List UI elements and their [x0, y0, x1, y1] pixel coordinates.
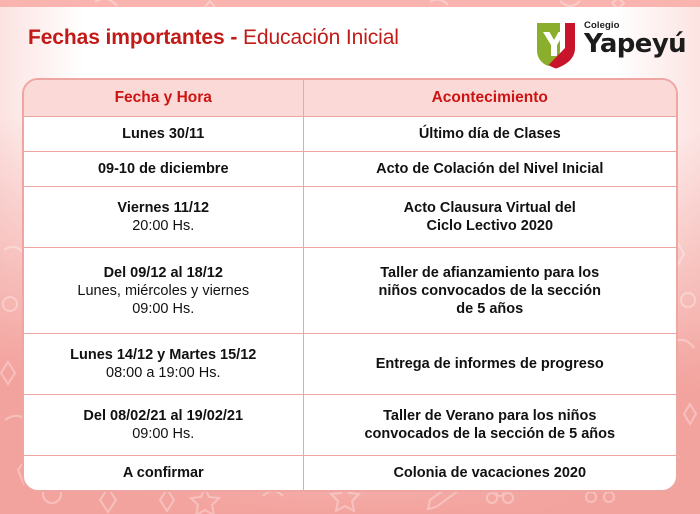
- cell-event-line: Colonia de vacaciones 2020: [310, 464, 671, 482]
- cell-date: 09-10 de diciembre: [24, 151, 303, 186]
- cell-date-content: Del 09/12 al 18/12Lunes, miércoles y vie…: [30, 264, 297, 318]
- table-header-row: Fecha y Hora Acontecimiento: [24, 80, 676, 116]
- cell-event-line: Acto de Colación del Nivel Inicial: [310, 160, 671, 178]
- cell-event-line: Entrega de informes de progreso: [310, 355, 671, 373]
- table-row: Lunes 14/12 y Martes 15/1208:00 a 19:00 …: [24, 334, 676, 395]
- cell-event: Último día de Clases: [303, 116, 676, 151]
- cell-event-line: de 5 años: [310, 300, 671, 318]
- cell-event-line: Acto Clausura Virtual del: [310, 199, 671, 217]
- cell-date-content: Viernes 11/1220:00 Hs.: [30, 199, 297, 235]
- cell-event-content: Entrega de informes de progreso: [310, 355, 671, 373]
- cell-date-line: 20:00 Hs.: [30, 217, 297, 235]
- schedule-table: Fecha y Hora Acontecimiento Lunes 30/11Ú…: [24, 80, 676, 490]
- poster-header: Fechas importantes - Educación Inicial C…: [0, 22, 700, 68]
- cell-date-content: Lunes 14/12 y Martes 15/1208:00 a 19:00 …: [30, 346, 297, 382]
- cell-event-line: niños convocados de la sección: [310, 282, 671, 300]
- table-row: 09-10 de diciembreActo de Colación del N…: [24, 151, 676, 186]
- cell-date-line: Del 09/12 al 18/12: [30, 264, 297, 282]
- cell-event: Colonia de vacaciones 2020: [303, 455, 676, 490]
- schedule-table-container: Fecha y Hora Acontecimiento Lunes 30/11Ú…: [22, 78, 678, 492]
- cell-date-line: 09:00 Hs.: [30, 425, 297, 443]
- cell-date-content: Del 08/02/21 al 19/02/2109:00 Hs.: [30, 407, 297, 443]
- table-row: A confirmarColonia de vacaciones 2020: [24, 455, 676, 490]
- school-logo: Colegio Yapeyú: [534, 18, 682, 72]
- cell-date-content: 09-10 de diciembre: [30, 160, 297, 178]
- cell-event: Acto de Colación del Nivel Inicial: [303, 151, 676, 186]
- cell-event-content: Taller de Verano para los niñosconvocado…: [310, 407, 671, 443]
- cell-date-line: 08:00 a 19:00 Hs.: [30, 364, 297, 382]
- cell-event-line: Taller de Verano para los niños: [310, 407, 671, 425]
- cell-date-line: 09-10 de diciembre: [30, 160, 297, 178]
- table-row: Lunes 30/11Último día de Clases: [24, 116, 676, 151]
- table-row: Viernes 11/1220:00 Hs.Acto Clausura Virt…: [24, 187, 676, 248]
- cell-date-line: A confirmar: [30, 464, 297, 482]
- cell-date: A confirmar: [24, 455, 303, 490]
- logo-yapeyu-text: Yapeyú: [584, 31, 682, 58]
- cell-date-line: Lunes, miércoles y viernes: [30, 282, 297, 300]
- cell-date-line: Viernes 11/12: [30, 199, 297, 217]
- cell-event-content: Colonia de vacaciones 2020: [310, 464, 671, 482]
- cell-date-content: A confirmar: [30, 464, 297, 482]
- cell-event: Entrega de informes de progreso: [303, 334, 676, 395]
- background-top-strip: [0, 0, 700, 7]
- cell-date-line: Del 08/02/21 al 19/02/21: [30, 407, 297, 425]
- table-row: Del 09/12 al 18/12Lunes, miércoles y vie…: [24, 247, 676, 333]
- cell-date: Lunes 30/11: [24, 116, 303, 151]
- cell-event-content: Acto Clausura Virtual delCiclo Lectivo 2…: [310, 199, 671, 235]
- cell-event-line: convocados de la sección de 5 años: [310, 425, 671, 443]
- logo-wordmark: Colegio Yapeyú: [584, 20, 682, 58]
- cell-event: Acto Clausura Virtual delCiclo Lectivo 2…: [303, 187, 676, 248]
- cell-event-content: Acto de Colación del Nivel Inicial: [310, 160, 671, 178]
- cell-date-content: Lunes 30/11: [30, 125, 297, 143]
- column-header-date: Fecha y Hora: [24, 80, 303, 116]
- page-title-strong: Fechas importantes -: [28, 26, 237, 49]
- cell-event-line: Ciclo Lectivo 2020: [310, 217, 671, 235]
- cell-date-line: 09:00 Hs.: [30, 300, 297, 318]
- cell-date: Del 08/02/21 al 19/02/2109:00 Hs.: [24, 395, 303, 456]
- cell-event-line: Último día de Clases: [310, 125, 671, 143]
- cell-date-line: Lunes 30/11: [30, 125, 297, 143]
- poster-canvas: Fechas importantes - Educación Inicial C…: [0, 0, 700, 514]
- page-title: Fechas importantes - Educación Inicial: [28, 26, 399, 50]
- cell-event-line: Taller de afianzamiento para los: [310, 264, 671, 282]
- cell-event-content: Taller de afianzamiento para losniños co…: [310, 264, 671, 318]
- cell-date-line: Lunes 14/12 y Martes 15/12: [30, 346, 297, 364]
- cell-date: Viernes 11/1220:00 Hs.: [24, 187, 303, 248]
- schedule-table-head: Fecha y Hora Acontecimiento: [24, 80, 676, 116]
- table-row: Del 08/02/21 al 19/02/2109:00 Hs.Taller …: [24, 395, 676, 456]
- shield-logo-icon: [534, 20, 578, 70]
- page-title-light: Educación Inicial: [243, 26, 399, 49]
- column-header-event: Acontecimiento: [303, 80, 676, 116]
- cell-date: Lunes 14/12 y Martes 15/1208:00 a 19:00 …: [24, 334, 303, 395]
- cell-event: Taller de afianzamiento para losniños co…: [303, 247, 676, 333]
- cell-event-content: Último día de Clases: [310, 125, 671, 143]
- cell-event: Taller de Verano para los niñosconvocado…: [303, 395, 676, 456]
- cell-date: Del 09/12 al 18/12Lunes, miércoles y vie…: [24, 247, 303, 333]
- schedule-table-body: Lunes 30/11Último día de Clases09-10 de …: [24, 116, 676, 490]
